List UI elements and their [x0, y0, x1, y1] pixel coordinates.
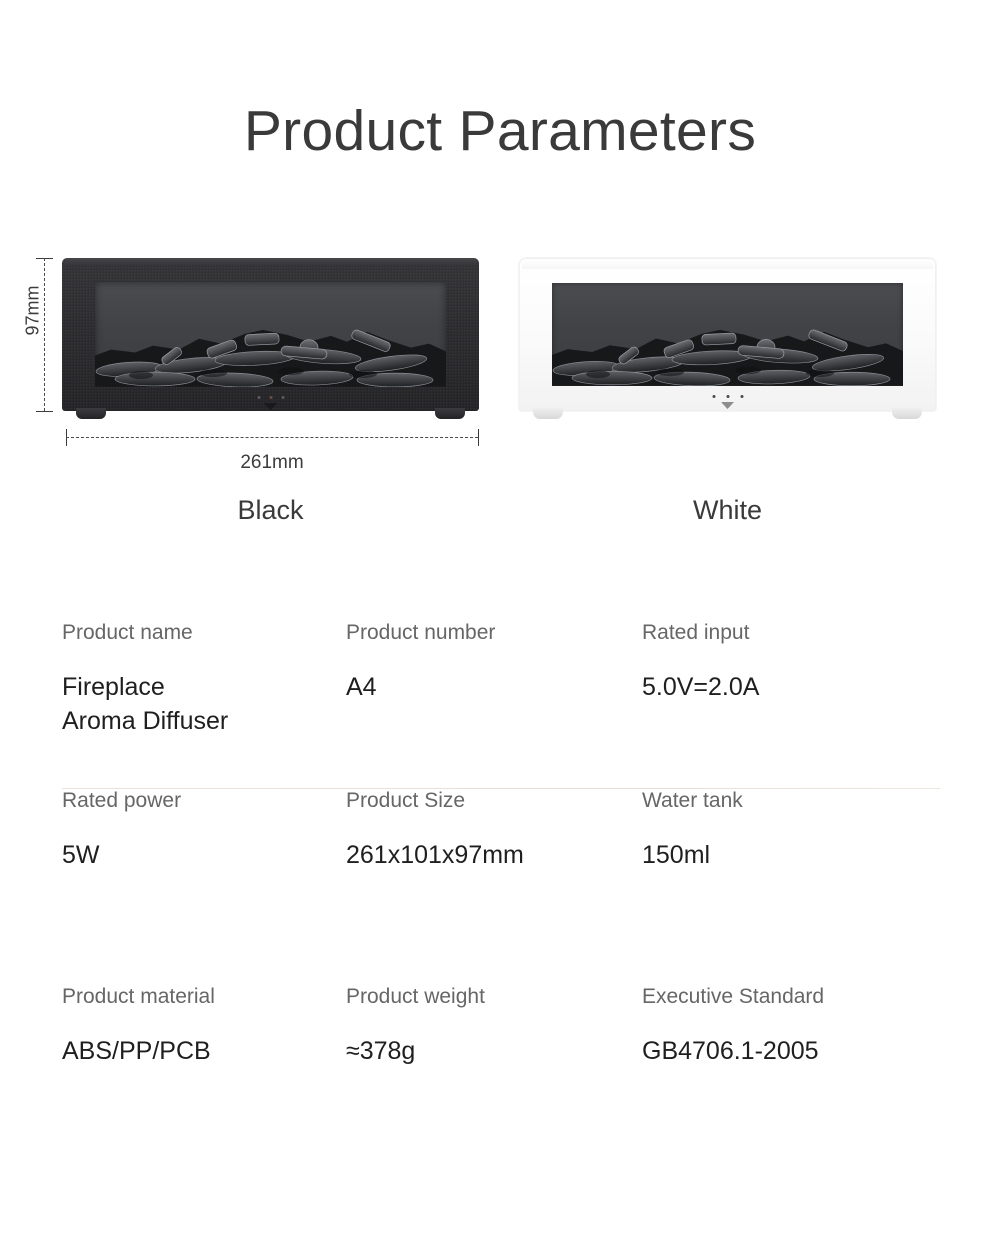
black-foot-right: [435, 408, 465, 419]
spec-value: ABS/PP/PCB: [62, 1035, 323, 1069]
specifications-table: Product name Fireplace Aroma Diffuser Pr…: [0, 620, 1000, 1124]
width-dimension-line: [66, 437, 478, 438]
product-image-white: [519, 258, 936, 411]
black-top-edge: [64, 258, 477, 267]
log-bed-icon: [95, 326, 446, 387]
spec-cell-product-name: Product name Fireplace Aroma Diffuser: [0, 620, 323, 788]
spec-label: Product material: [62, 984, 323, 1009]
spec-row: Product name Fireplace Aroma Diffuser Pr…: [0, 620, 1000, 788]
spec-row: Product material ABS/PP/PCB Product weig…: [0, 984, 1000, 1124]
height-dimension-label: 97mm: [23, 276, 44, 346]
spec-value: 150ml: [642, 839, 1000, 873]
spec-label: Product number: [346, 620, 621, 645]
variant-caption-black: Black: [62, 495, 479, 526]
spec-cell-executive-standard: Executive Standard GB4706.1-2005: [621, 984, 1000, 1124]
width-dimension-label: 261mm: [66, 452, 478, 474]
spec-cell-rated-power: Rated power 5W: [0, 788, 323, 984]
width-dimension-cap-right: [478, 429, 479, 446]
spec-cell-product-weight: Product weight ≈378g: [323, 984, 621, 1124]
log-bed-icon: [552, 326, 903, 386]
spec-label: Product weight: [346, 984, 621, 1009]
black-flame-window: [95, 282, 446, 387]
spec-value: 5.0V=2.0A: [642, 671, 1000, 705]
spec-cell-product-size: Product Size 261x101x97mm: [323, 788, 621, 984]
white-control-indicators[interactable]: [712, 395, 743, 398]
spec-label: Rated input: [642, 620, 1000, 645]
spec-value: A4: [346, 671, 621, 705]
product-parameters-page: Product Parameters: [0, 0, 1000, 1238]
spec-label: Product Size: [346, 788, 621, 813]
spec-label: Product name: [62, 620, 323, 645]
product-image-black: [62, 258, 479, 411]
black-foot-left: [76, 408, 106, 419]
spec-cell-product-material: Product material ABS/PP/PCB: [0, 984, 323, 1124]
variant-caption-white: White: [519, 495, 936, 526]
spec-label: Executive Standard: [642, 984, 1000, 1009]
white-top-edge: [522, 259, 933, 269]
white-flame-window: [552, 283, 903, 386]
spec-label: Rated power: [62, 788, 323, 813]
spec-value: ≈378g: [346, 1035, 621, 1069]
spec-cell-product-number: Product number A4: [323, 620, 621, 788]
spec-row: Rated power 5W Product Size 261x101x97mm…: [0, 788, 1000, 984]
spec-value: Fireplace Aroma Diffuser: [62, 671, 323, 739]
white-foot-right: [892, 408, 922, 419]
spec-cell-rated-input: Rated input 5.0V=2.0A: [621, 620, 1000, 788]
spec-value: GB4706.1-2005: [642, 1035, 1000, 1069]
white-foot-left: [533, 408, 563, 419]
spec-value: 261x101x97mm: [346, 839, 621, 873]
page-title: Product Parameters: [0, 98, 1000, 164]
black-control-indicators[interactable]: [257, 396, 284, 399]
spec-cell-water-tank: Water tank 150ml: [621, 788, 1000, 984]
spec-label: Water tank: [642, 788, 1000, 813]
spec-value: 5W: [62, 839, 323, 873]
height-dimension-line: [44, 258, 45, 411]
height-dimension-cap-bottom: [36, 411, 53, 412]
